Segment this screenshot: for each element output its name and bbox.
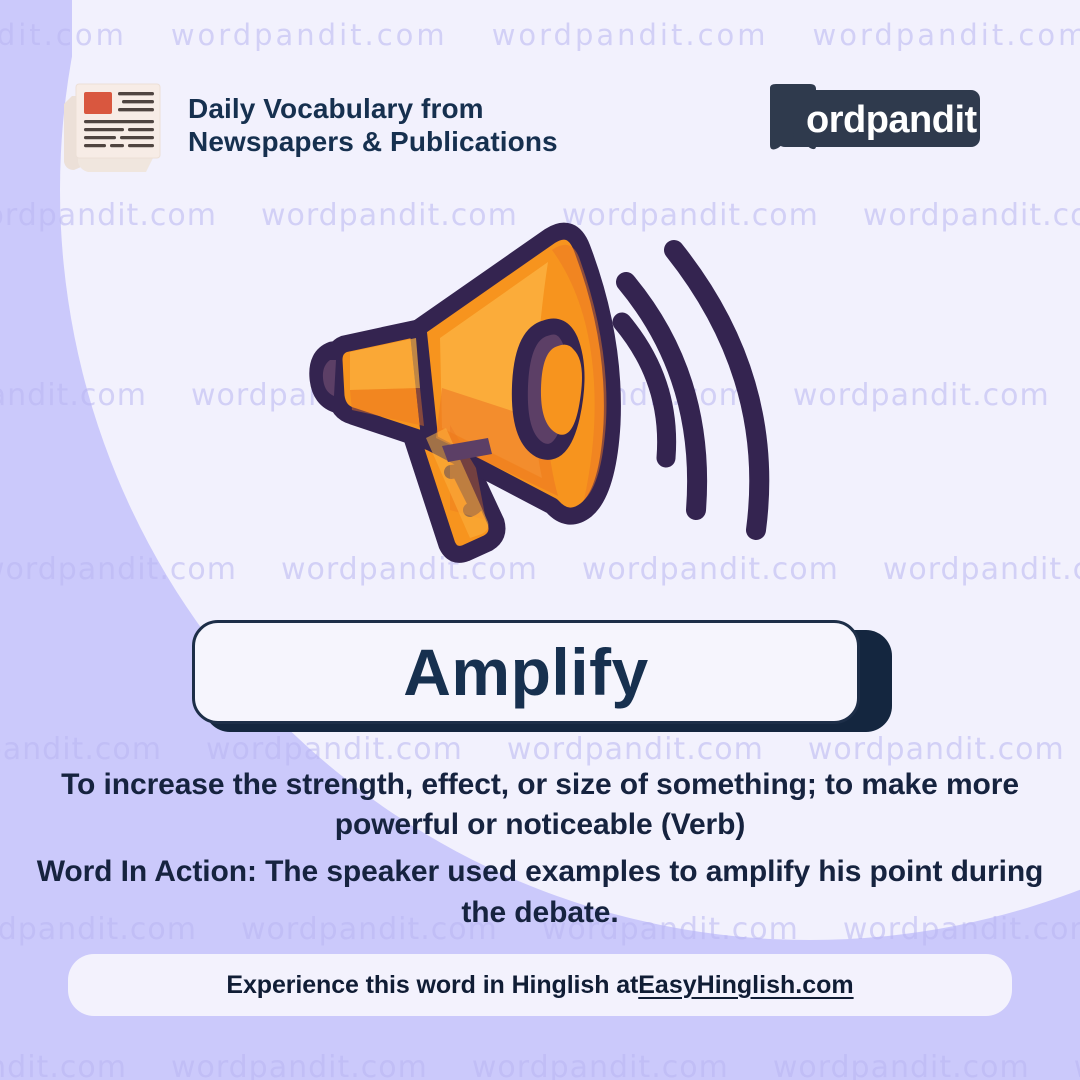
footer-banner[interactable]: Experience this word in Hinglish at Easy… <box>68 954 1012 1016</box>
page-title-line-1: Daily Vocabulary from <box>188 92 658 125</box>
vocabulary-card: wordpandit.comwordpandit.comwordpandit.c… <box>0 0 1080 1080</box>
word-definition: To increase the strength, effect, or siz… <box>40 765 1040 845</box>
page-title: Daily Vocabulary from Newspapers & Publi… <box>188 92 658 158</box>
card-header: Daily Vocabulary from Newspapers & Publi… <box>0 0 1080 200</box>
word-in-action: Word In Action: The speaker used example… <box>20 852 1060 934</box>
footer-prefix-text: Experience this word in Hinglish at <box>226 971 638 1000</box>
wordpandit-logo[interactable]: ordpandit <box>758 84 980 152</box>
vocabulary-word: Amplify <box>403 639 649 705</box>
megaphone-icon <box>300 210 790 610</box>
newspaper-icon <box>58 70 170 174</box>
word-title-box: Amplify <box>192 620 860 724</box>
easyhinglish-link[interactable]: EasyHinglish.com <box>638 971 853 1000</box>
word-title-container: Amplify <box>192 620 892 732</box>
page-title-line-2: Newspapers & Publications <box>188 125 658 158</box>
svg-text:ordpandit: ordpandit <box>806 99 978 141</box>
